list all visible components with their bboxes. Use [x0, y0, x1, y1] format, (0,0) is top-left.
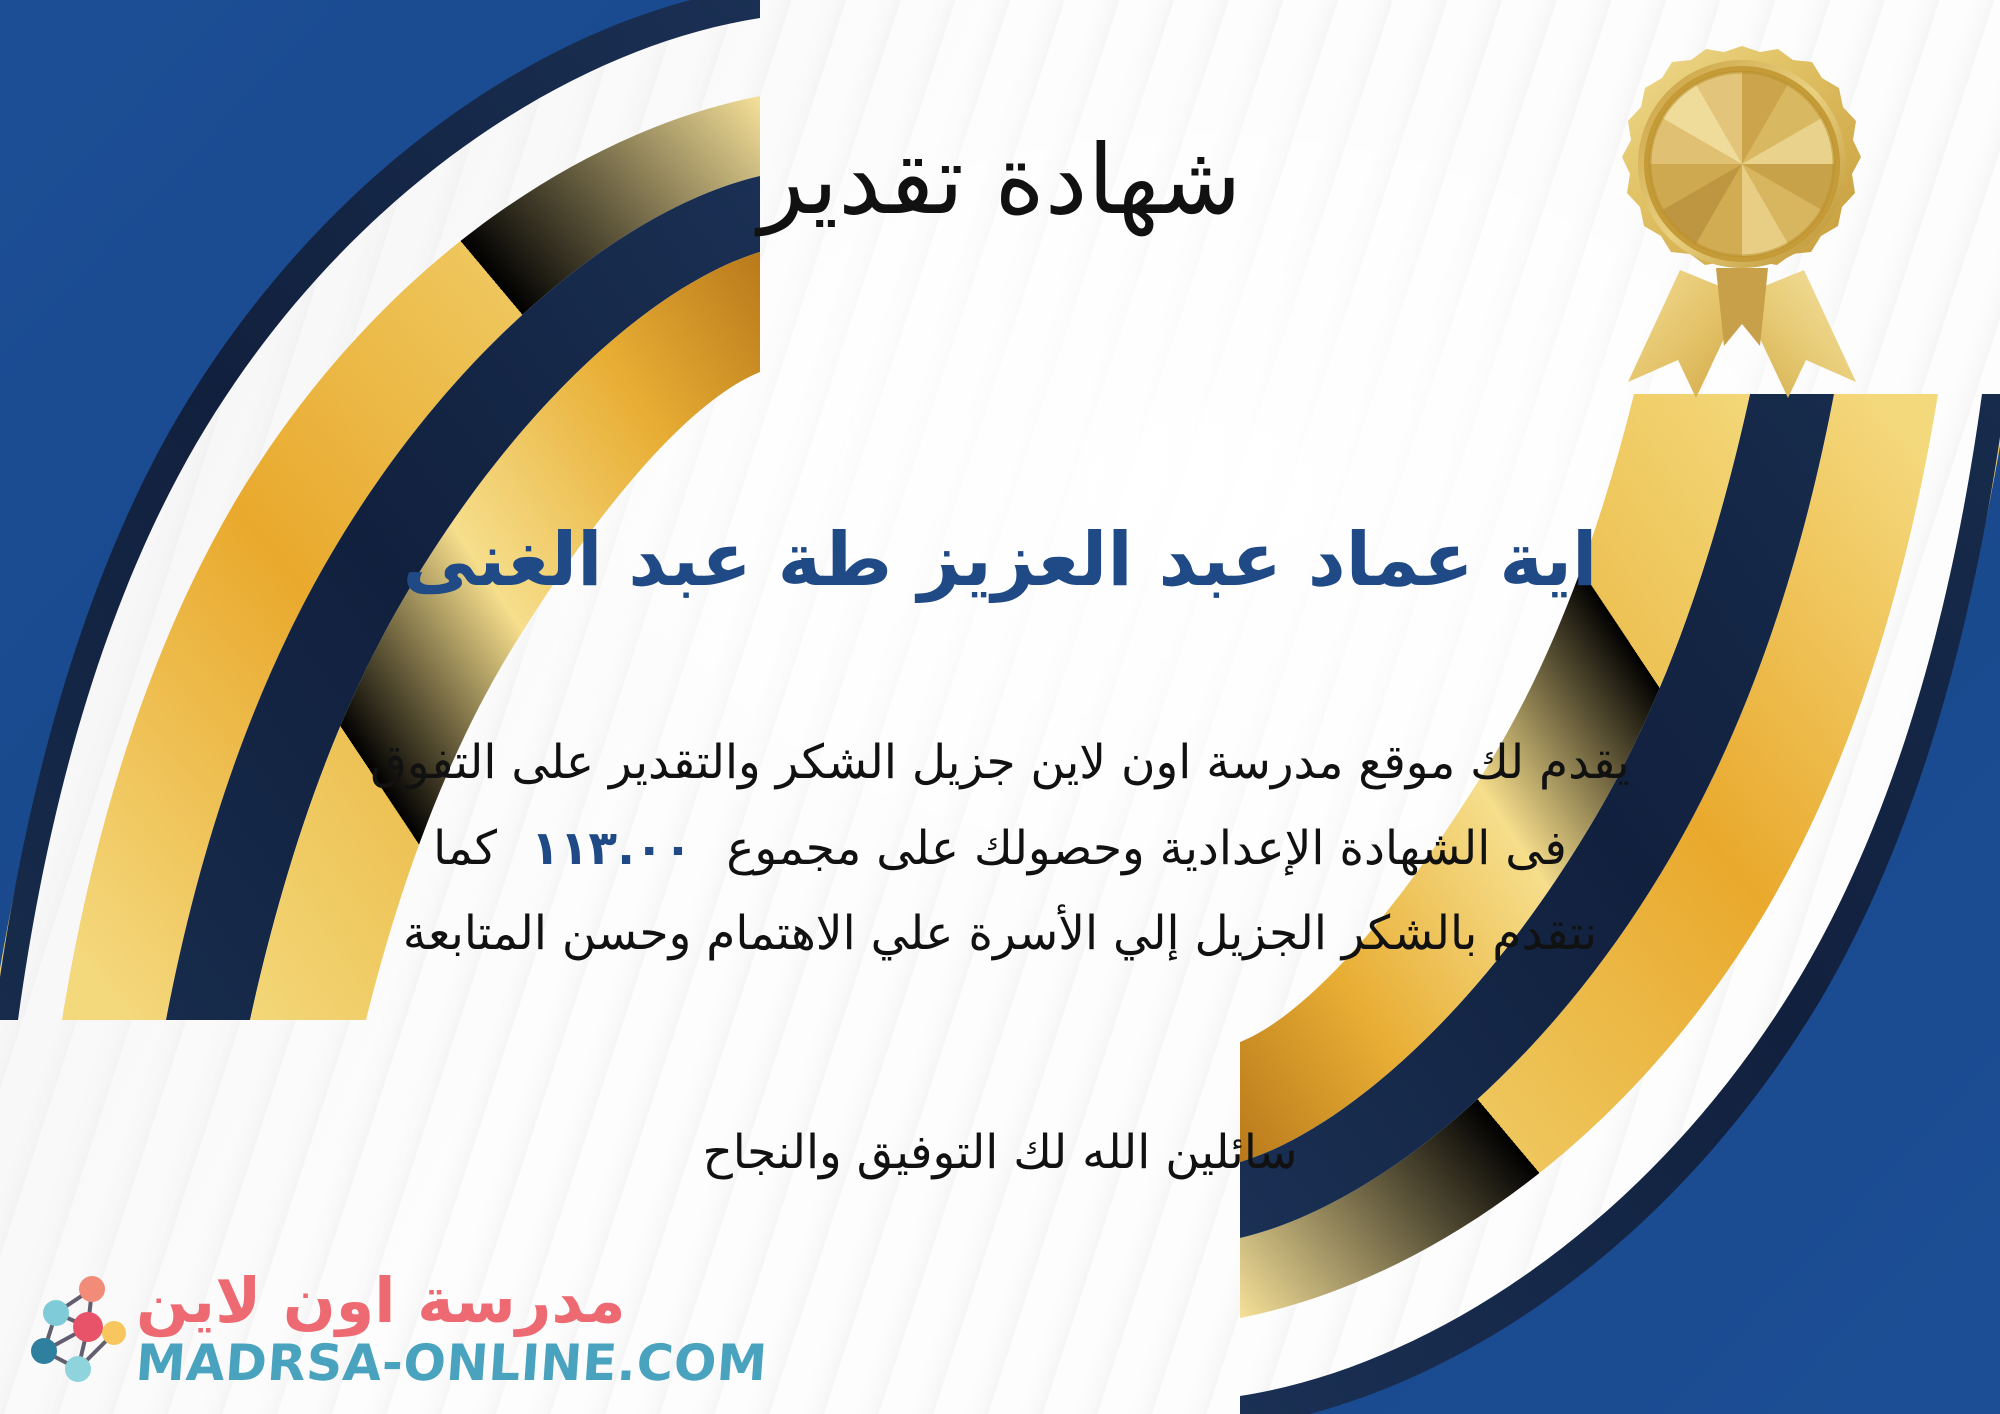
body-line-3: نتقدم بالشكر الجزيل إلي الأسرة علي الاهت… — [52, 891, 1948, 977]
node-teal-upper-left — [43, 1300, 69, 1326]
body-line-2-prefix: فى الشهادة الإعدادية وحصولك على مجموع — [726, 821, 1567, 876]
body-line-2-suffix: كما — [433, 821, 497, 876]
node-darkteal-left — [31, 1338, 57, 1364]
node-red-center — [73, 1312, 103, 1342]
certificate-title: شهادة تقدير — [0, 120, 2000, 240]
network-nodes-icon — [22, 1273, 126, 1385]
certificate-body: يقدم لك موقع مدرسة اون لاين جزيل الشكر و… — [52, 720, 1948, 977]
brand-arabic-name: مدرسة اون لاين — [136, 1270, 626, 1332]
certificate-closing: سائلين الله لك التوفيق والنجاح — [0, 1115, 2000, 1190]
grade-total-value: ١١٣.٠٠ — [497, 821, 726, 876]
recipient-name: اية عماد عبد العزيز طة عبد الغنى — [0, 512, 2000, 608]
brand-logo[interactable]: مدرسة اون لاين MADRSA-ONLINE.COM — [22, 1270, 767, 1388]
node-yellow-right — [102, 1321, 126, 1345]
brand-text-block: مدرسة اون لاين MADRSA-ONLINE.COM — [136, 1270, 767, 1388]
body-line-2: فى الشهادة الإعدادية وحصولك على مجموع١١٣… — [52, 806, 1948, 892]
node-coral-top — [79, 1276, 105, 1302]
medal-ribbon-knot — [1716, 268, 1768, 346]
brand-website-url: MADRSA-ONLINE.COM — [134, 1338, 769, 1388]
body-line-1: يقدم لك موقع مدرسة اون لاين جزيل الشكر و… — [52, 720, 1948, 806]
certificate-canvas: شهادة تقدير اية عماد عبد العزيز طة عبد ا… — [0, 0, 2000, 1414]
node-lightteal-bottom — [65, 1356, 91, 1382]
